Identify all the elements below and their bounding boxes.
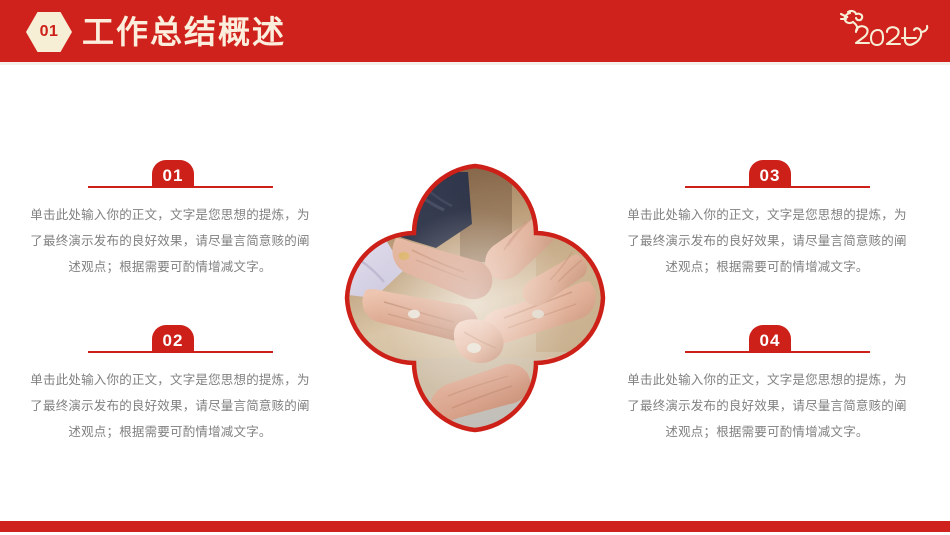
content-block-03: 03 单击此处输入你的正文，文字是您思想的提炼，为了最终演示发布的良好效果，请尽… [622, 160, 912, 280]
teamwork-hands-photo [340, 162, 610, 434]
block-number-label-01: 01 [163, 158, 184, 190]
block-number-tab-01: 01 [152, 160, 194, 188]
content-block-04: 04 单击此处输入你的正文，文字是您思想的提炼，为了最终演示发布的良好效果，请尽… [622, 325, 912, 445]
block-number-tab-02: 02 [152, 325, 194, 353]
block-number-label-04: 04 [760, 323, 781, 355]
block-header-01: 01 [25, 160, 315, 192]
block-body-text-04: 单击此处输入你的正文，文字是您思想的提炼，为了最终演示发布的良好效果，请尽量言简… [622, 367, 912, 445]
block-number-label-02: 02 [163, 323, 184, 355]
page-title: 工作总结概述 [82, 9, 286, 55]
block-body-text-01: 单击此处输入你的正文，文字是您思想的提炼，为了最终演示发布的良好效果，请尽量言简… [25, 202, 315, 280]
block-number-label-03: 03 [760, 158, 781, 190]
block-header-03: 03 [622, 160, 912, 192]
block-number-tab-03: 03 [749, 160, 791, 188]
header-accent-line [0, 62, 950, 65]
block-body-text-03: 单击此处输入你的正文，文字是您思想的提炼，为了最终演示发布的良好效果，请尽量言简… [622, 202, 912, 280]
block-header-04: 04 [622, 325, 912, 357]
content-block-01: 01 单击此处输入你的正文，文字是您思想的提炼，为了最终演示发布的良好效果，请尽… [25, 160, 315, 280]
block-number-tab-04: 04 [749, 325, 791, 353]
block-header-02: 02 [25, 325, 315, 357]
block-body-text-02: 单击此处输入你的正文，文字是您思想的提炼，为了最终演示发布的良好效果，请尽量言简… [25, 367, 315, 445]
section-number-badge: 01 [26, 12, 72, 52]
footer-bar [0, 521, 950, 532]
content-block-02: 02 单击此处输入你的正文，文字是您思想的提炼，为了最终演示发布的良好效果，请尽… [25, 325, 315, 445]
section-number-label: 01 [26, 12, 72, 52]
dragon-2024-logo-icon [836, 8, 932, 56]
slide: 01 工作总结概述 [0, 0, 950, 535]
